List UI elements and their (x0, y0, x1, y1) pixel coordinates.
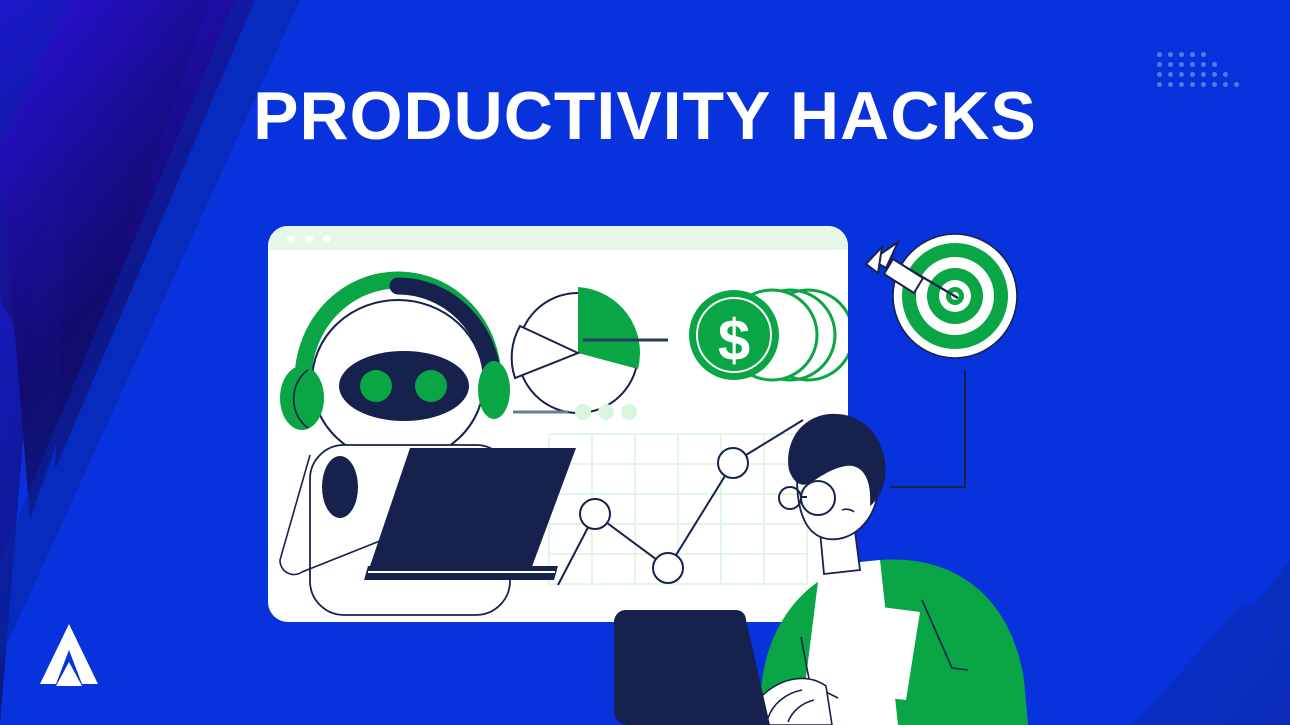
pie-legend-dot-1 (575, 404, 591, 420)
traffic-light-dot-1[interactable] (287, 235, 295, 243)
chart-marker-2[interactable] (653, 553, 683, 583)
grid-dot (1179, 52, 1184, 57)
dart-icon (866, 242, 958, 298)
robot-eye-left (360, 370, 392, 402)
grid-dot (1157, 62, 1162, 67)
dart-fletching-top (872, 242, 898, 268)
triangle-a-logo[interactable] (38, 622, 100, 690)
stripe-2 (1097, 594, 1285, 725)
laptop-front-screen (614, 610, 770, 725)
target-outer-white (893, 234, 1017, 358)
browser-content-area: $ (268, 250, 848, 622)
bottom-stripes (1097, 560, 1290, 725)
traffic-light-dot-3[interactable] (323, 235, 331, 243)
target-bullseye-center (951, 292, 959, 300)
line-chart-graphic (549, 420, 808, 585)
inner-card-ellipse (322, 456, 358, 518)
target-ring-1 (902, 243, 1008, 349)
page-title: PRODUCTIVITY HACKS (0, 74, 1290, 158)
shard-2 (55, 0, 255, 470)
grid-dot (1190, 52, 1195, 57)
slide-canvas: PRODUCTIVITY HACKS (0, 0, 1290, 725)
pie-chart-graphic (512, 287, 668, 420)
person-jacket-seam-left (801, 637, 838, 698)
dart-fletching-bottom (866, 247, 882, 273)
target-ring-2 (927, 268, 983, 324)
grid-dot (1179, 62, 1184, 67)
target-gap-2 (939, 280, 971, 312)
target-bullseye (946, 287, 964, 305)
person-hand (752, 678, 832, 725)
grid-dot (1157, 52, 1162, 57)
stripe-1 (1160, 560, 1290, 725)
person-finger-2 (788, 700, 814, 722)
grid-dot (1168, 62, 1173, 67)
laptop-foreground-graphic (614, 610, 770, 725)
coin-stack-graphic: $ (689, 290, 848, 380)
robot-eye-right (415, 370, 447, 402)
grid-dot (1201, 52, 1206, 57)
person-finger-1 (768, 690, 802, 718)
target-gap-1 (916, 257, 994, 335)
grid-dot (1168, 52, 1173, 57)
shard-3 (0, 120, 38, 470)
traffic-light-dot-2[interactable] (305, 235, 313, 243)
dart-grip (884, 259, 923, 293)
shard-1 (0, 0, 160, 330)
pie-legend-dot-2 (598, 404, 614, 420)
grid-dot (1201, 62, 1206, 67)
corner-bracket (890, 370, 966, 488)
shard-4 (0, 300, 30, 725)
grid-dot (1190, 62, 1195, 67)
grid-dot (1212, 62, 1217, 67)
browser-title-bar (268, 226, 848, 250)
robot-earcup-right (478, 361, 510, 419)
browser-window-mockup[interactable]: $ (268, 226, 848, 622)
chart-marker-3[interactable] (718, 448, 748, 478)
person-jacket-seam-right (922, 600, 968, 670)
target-dartboard-graphic (866, 234, 1017, 358)
chart-marker-1[interactable] (580, 499, 610, 529)
laptop-inner-graphic (280, 445, 576, 615)
coin-dollar-symbol: $ (718, 308, 750, 373)
pie-legend-dot-3 (621, 404, 637, 420)
robot-visor (339, 351, 469, 421)
robot-assistant-head (280, 280, 510, 462)
dart-shaft (880, 252, 958, 298)
